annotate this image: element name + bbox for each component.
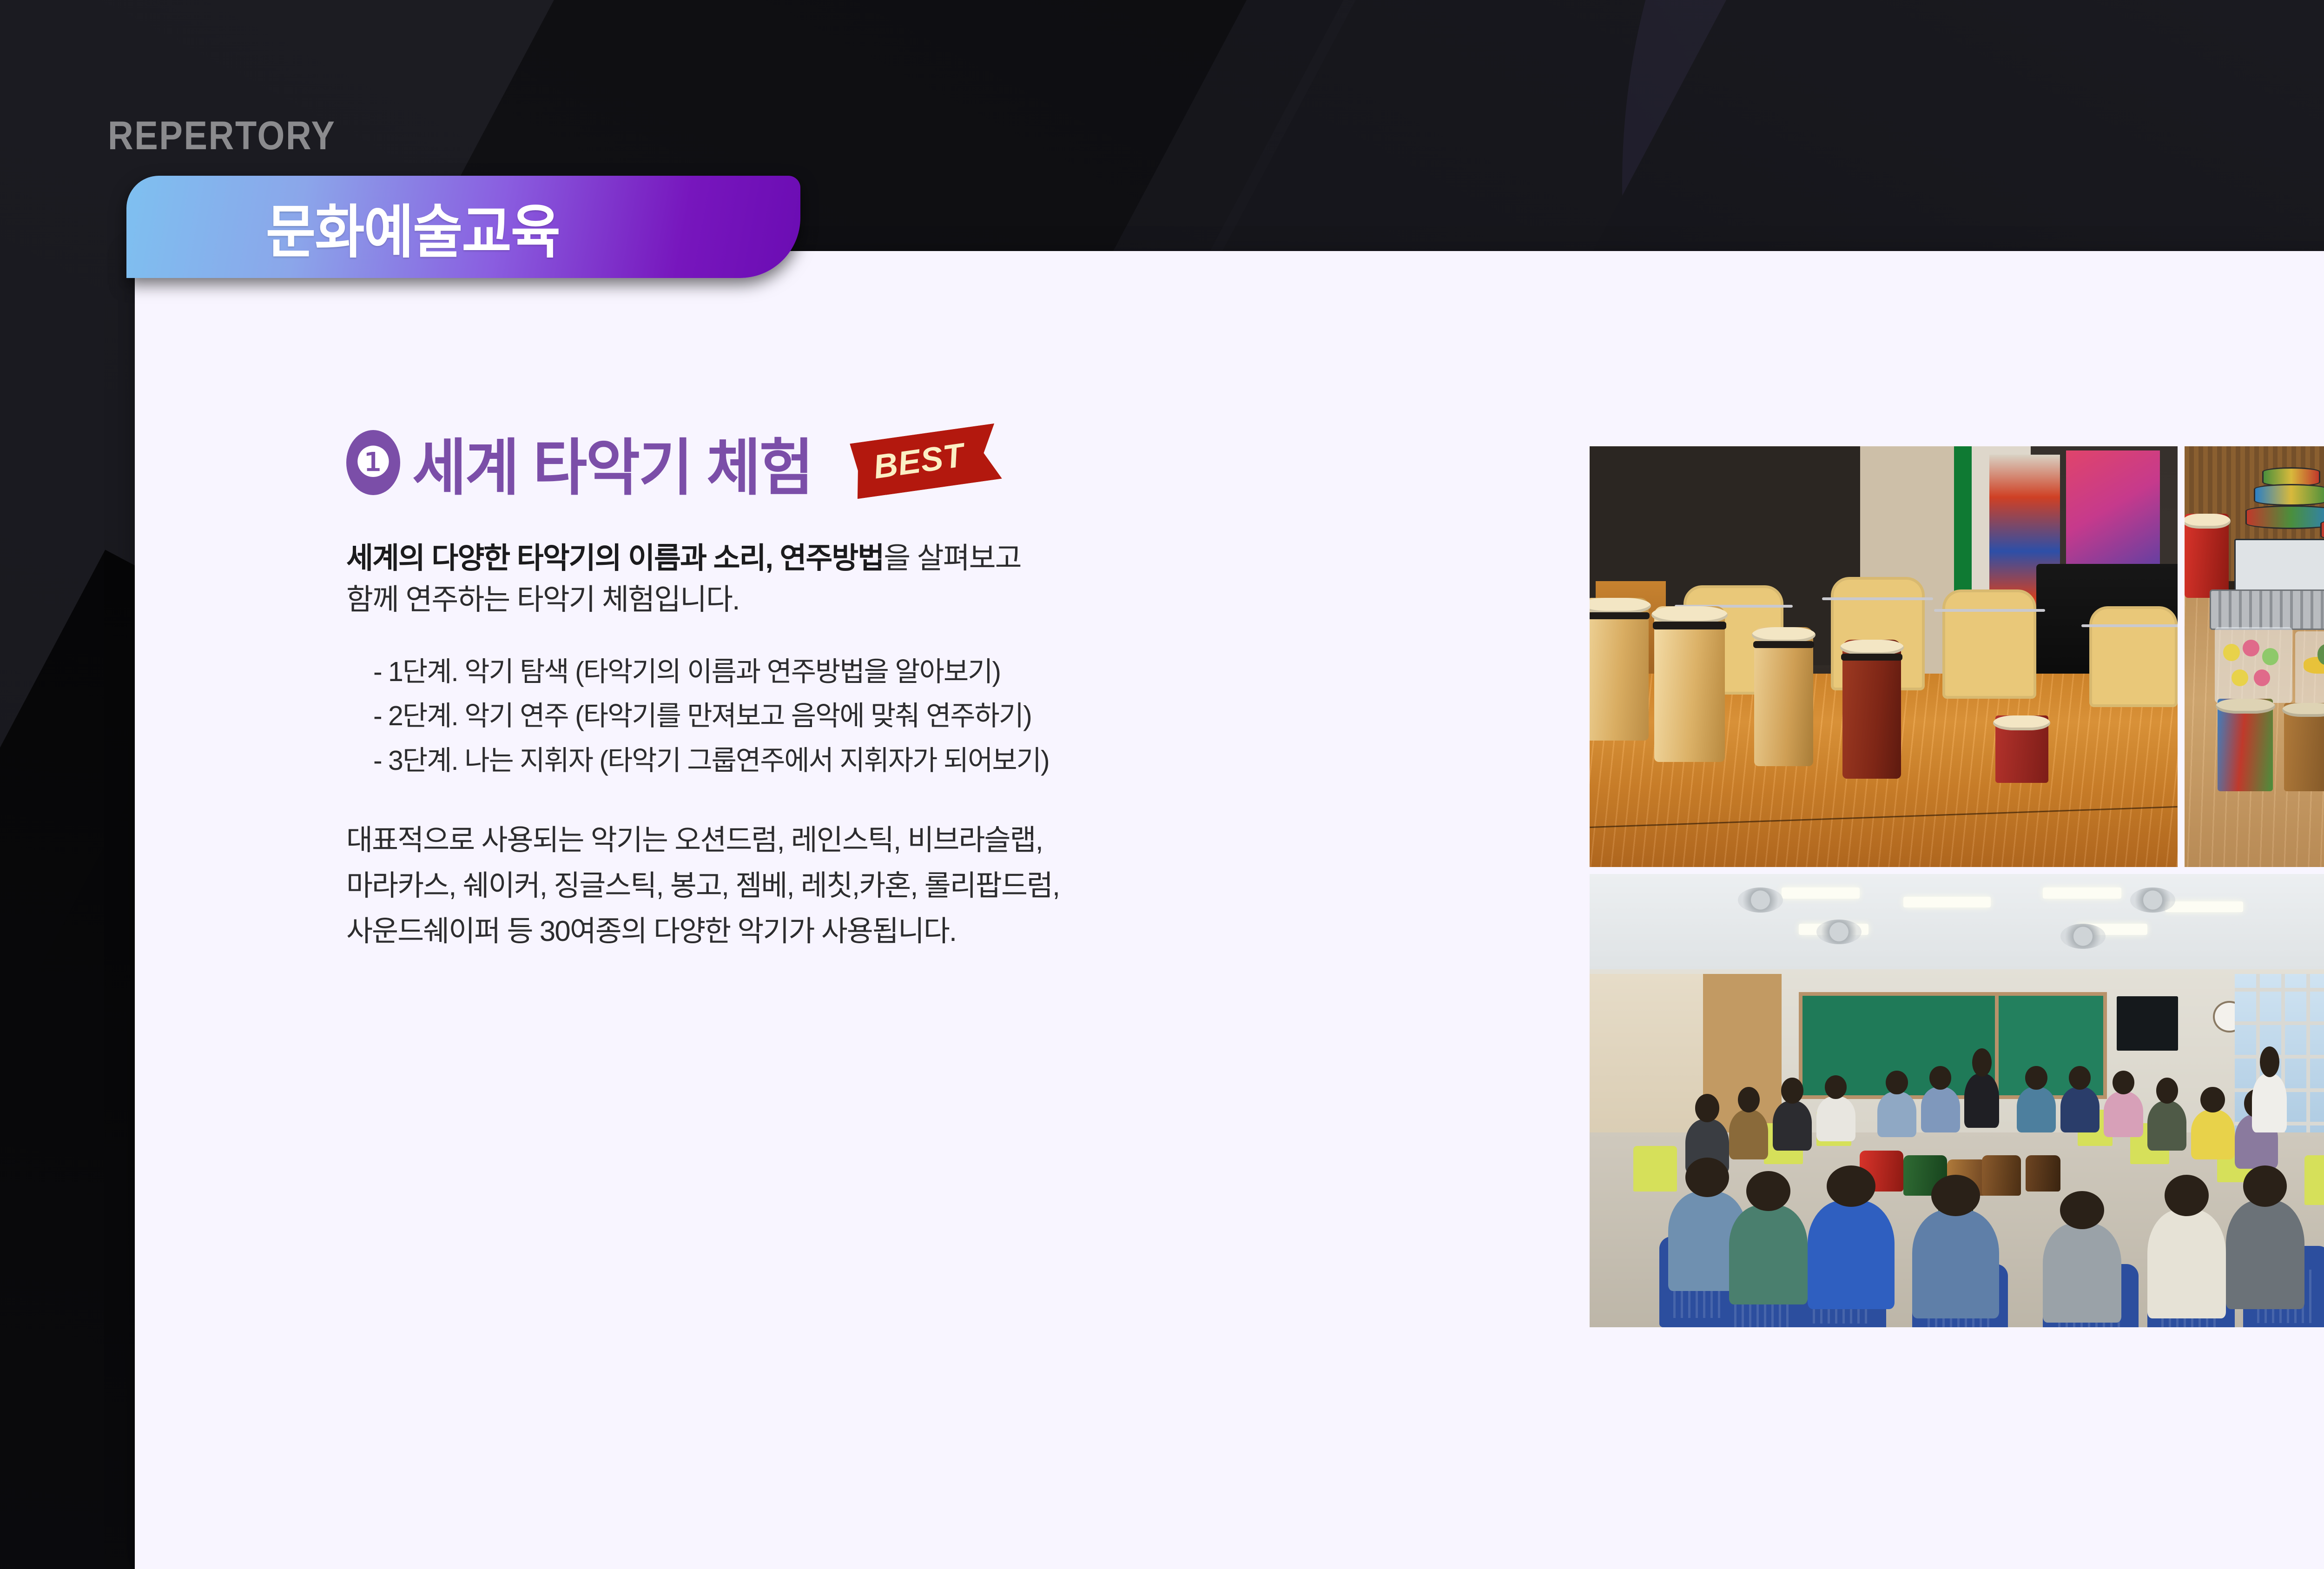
list-item: - 2단계. 악기 연주 (타악기를 만져보고 음악에 맞춰 연주하기) (373, 694, 1601, 739)
section-tab-culture-arts-education[interactable]: 문화예술교육 (126, 176, 800, 278)
program-instruments-paragraph: 대표적으로 사용되는 악기는 오션드럼, 레인스틱, 비브라슬랩, 마라카스, … (346, 818, 1601, 954)
instrument-collection-photo (2185, 446, 2324, 867)
list-item: - 1단계. 악기 탐색 (타악기의 이름과 연주방법을 알아보기) (373, 650, 1601, 695)
list-item: - 3단계. 나는 지휘자 (타악기 그룹연주에서 지휘자가 되어보기) (373, 739, 1601, 783)
program-title-row: ❶ 세계 타악기 체험 BEST (346, 421, 1601, 504)
instruments-line-3: 사운드쉐이퍼 등 30여종의 다양한 악기가 사용됩니다. (346, 909, 1601, 954)
status-badge-best: BEST (850, 424, 1003, 499)
program-lead-strong: 세계의 다양한 타악기의 이름과 소리, 연주방법 (346, 542, 884, 575)
section-tab-label: 문화예술교육 (266, 185, 560, 269)
instruments-line-1: 대표적으로 사용되는 악기는 오션드럼, 레인스틱, 비브라슬랩, (346, 818, 1601, 863)
photo-gallery (1590, 446, 2324, 1327)
program-number-badge: ❶ (346, 430, 400, 495)
program-steps-list: - 1단계. 악기 탐색 (타악기의 이름과 연주방법을 알아보기) - 2단계… (373, 650, 1601, 783)
program-lead-rest: 을 살펴보고 (884, 542, 1021, 575)
program-content: ❶ 세계 타악기 체험 BEST 세계의 다양한 타악기의 이름과 소리, 연주… (346, 421, 1601, 954)
eyebrow-repertory: REPERTORY (108, 113, 336, 159)
program-lead-paragraph: 세계의 다양한 타악기의 이름과 소리, 연주방법을 살펴보고 함께 연주하는 … (346, 538, 1601, 621)
stage-percussion-photo (1590, 446, 2178, 867)
program-lead-line2: 함께 연주하는 타악기 체험입니다. (346, 583, 739, 616)
classroom-workshop-photo (1590, 874, 2324, 1327)
page-title: 세계 타악기 체험 (412, 418, 812, 507)
instruments-line-2: 마라카스, 쉐이커, 징글스틱, 봉고, 젬베, 레칫,카혼, 롤리팝드럼, (346, 863, 1601, 909)
